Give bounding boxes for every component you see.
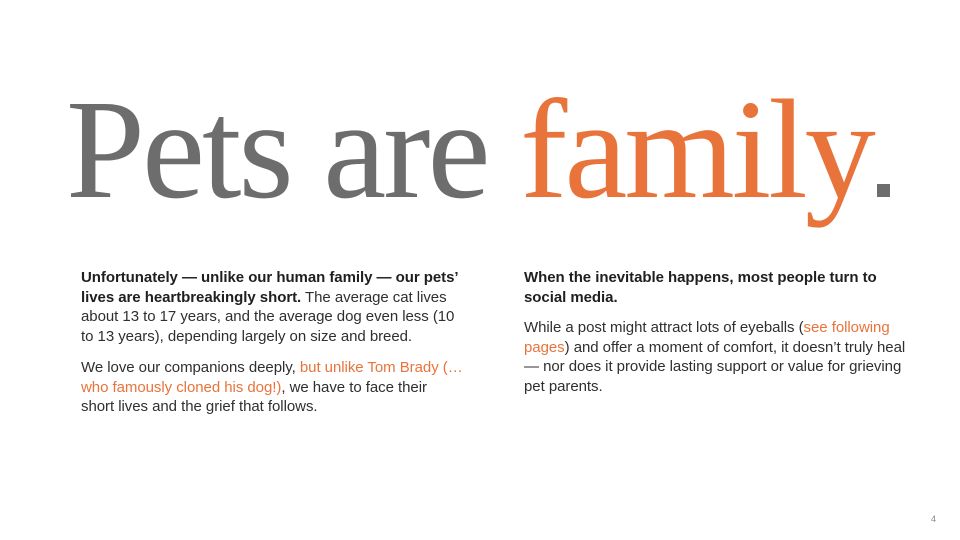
right-text-column: When the inevitable happens, most people… bbox=[524, 268, 911, 417]
left-text-column: Unfortunately — unlike our human family … bbox=[81, 268, 464, 417]
right-column-heading: When the inevitable happens, most people… bbox=[524, 268, 911, 307]
headline-accent-segment: family bbox=[520, 70, 873, 228]
slide-canvas: Pets are family Unfortunately — unlike o… bbox=[0, 0, 960, 540]
left-paragraph-1: Unfortunately — unlike our human family … bbox=[81, 268, 464, 346]
right-paragraph-before: While a post might attract lots of eyeba… bbox=[524, 319, 804, 336]
left-paragraph-2: We love our companions deeply, but unlik… bbox=[81, 358, 464, 417]
body-columns: Unfortunately — unlike our human family … bbox=[81, 268, 911, 417]
right-paragraph-after: ) and offer a moment of comfort, it does… bbox=[524, 339, 905, 395]
left-paragraph-2-before: We love our companions deeply, bbox=[81, 359, 300, 376]
headline-gray-segment: Pets are bbox=[66, 70, 520, 228]
page-number: 4 bbox=[931, 514, 936, 524]
page-title: Pets are family bbox=[66, 78, 890, 220]
right-paragraph-1: While a post might attract lots of eyeba… bbox=[524, 318, 911, 396]
square-period-icon bbox=[877, 184, 890, 197]
